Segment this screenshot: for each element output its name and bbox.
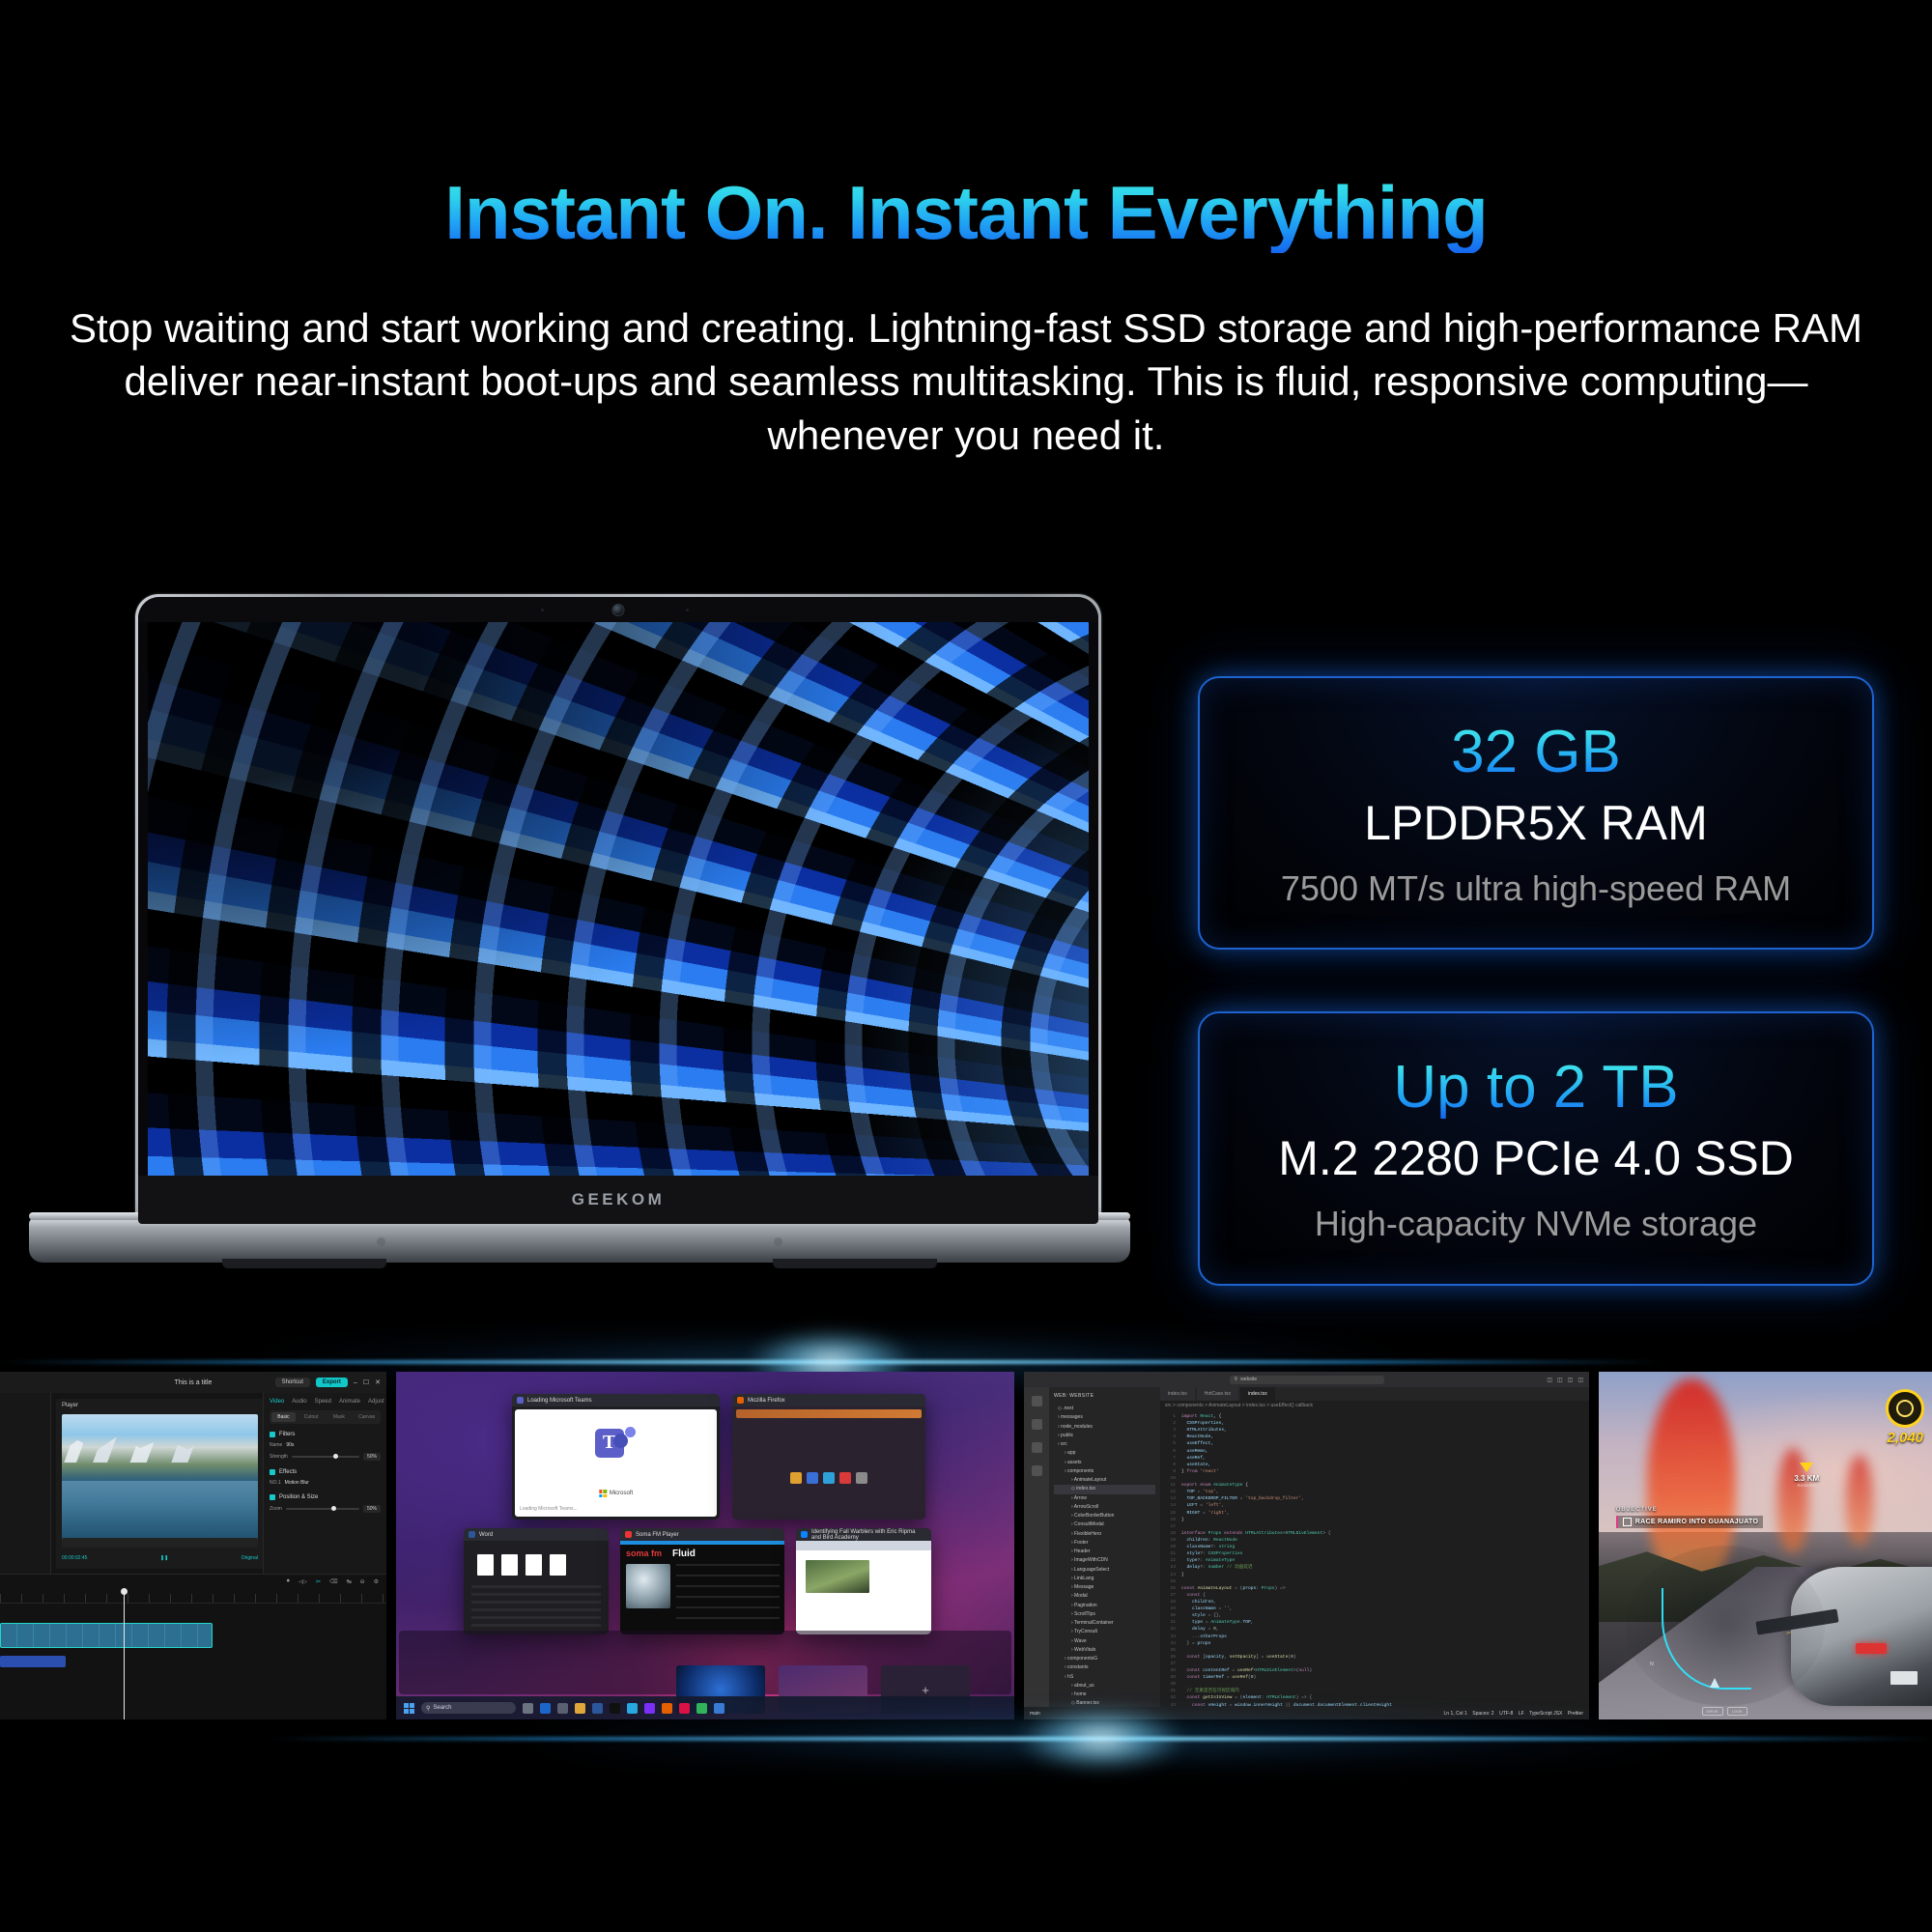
status-item[interactable]: UTF-8 <box>1499 1711 1513 1717</box>
original-badge[interactable]: Original <box>241 1555 258 1561</box>
plus-icon[interactable]: + <box>922 1683 929 1697</box>
car-taillight <box>1856 1643 1887 1654</box>
window-title: Identifying Fall Warblers with Eric Ripm… <box>811 1529 926 1541</box>
status-branch[interactable]: main <box>1030 1711 1040 1717</box>
waypoint-hud: 3.3 KM RAMIRO <box>1794 1463 1819 1488</box>
file-tree-item[interactable]: › constants <box>1054 1663 1155 1672</box>
close-icon[interactable]: ✕ <box>375 1378 381 1386</box>
tile-icon-1[interactable] <box>790 1472 802 1484</box>
section-label: Effects <box>279 1469 297 1475</box>
breadcrumb[interactable]: src > components > AnimateLayout > index… <box>1165 1403 1313 1408</box>
spec-subtitle: High-capacity NVMe storage <box>1235 1203 1837 1244</box>
spec-value: 32 GB <box>1235 721 1837 783</box>
windows-start-icon[interactable] <box>404 1703 414 1714</box>
tab-index-active[interactable]: index.tsx <box>1240 1387 1275 1401</box>
window-title: Word <box>479 1532 493 1538</box>
vendor-label: Microsoft <box>610 1491 633 1496</box>
tab-adjust[interactable]: Adjust <box>368 1399 384 1405</box>
teams-logo-icon: T <box>595 1427 638 1465</box>
track-list[interactable] <box>676 1564 780 1623</box>
player-controls[interactable]: 00:00:02:45 ❚❚ Original <box>62 1551 258 1565</box>
file-tree[interactable]: ◇ .next› messages› node_modules› public›… <box>1054 1405 1155 1707</box>
file-tree-item[interactable]: › ScrollTips <box>1054 1610 1155 1619</box>
field-value: Motion Blur <box>285 1480 309 1486</box>
webcam-icon <box>613 605 624 615</box>
objective-hud: OBJECTIVE RACE RAMIRO INTO GUANAJUATO <box>1616 1507 1764 1528</box>
accent-bar <box>620 1541 784 1545</box>
laptop-screw-left-icon <box>377 1237 385 1246</box>
timeline-audio-clip[interactable] <box>0 1656 66 1667</box>
minimap-player-arrow-icon <box>1710 1678 1719 1688</box>
file-tree-item[interactable]: › components <box>1054 1467 1155 1476</box>
zoom-slider[interactable] <box>286 1508 359 1510</box>
window-title: Mozilla Firefox <box>748 1398 785 1404</box>
laptop-lid: GEEKOM <box>135 594 1101 1227</box>
file-tree-item[interactable]: › app <box>1054 1449 1155 1458</box>
minimap-route <box>1662 1588 1751 1690</box>
loading-status: Loading Microsoft Teams... <box>520 1506 578 1512</box>
file-tree-item[interactable]: › TerminalContainer <box>1054 1619 1155 1628</box>
window-titlebar: Loading Microsoft Teams <box>512 1394 720 1406</box>
inspector-subtabs[interactable]: Basic Cutout Mask Canvas <box>270 1410 381 1424</box>
explorer-title: WEB: WEBSITE <box>1054 1393 1155 1399</box>
file-tree-item[interactable]: › about_us <box>1054 1682 1155 1690</box>
explorer-icon[interactable] <box>1032 1396 1042 1406</box>
field-label: Zoom <box>270 1506 282 1512</box>
section-label: Position & Size <box>279 1494 318 1500</box>
window-body <box>464 1541 609 1634</box>
car-license-plate <box>1890 1671 1918 1685</box>
field-row-slider[interactable]: Strength 50% <box>270 1453 381 1461</box>
file-tree-item[interactable]: › FlexibleHero <box>1054 1530 1155 1539</box>
shortcut-button[interactable]: Shortcut <box>275 1378 310 1387</box>
section-header[interactable]: Filters <box>270 1432 381 1437</box>
spec-card-storage: Up to 2 TB M.2 2280 PCIe 4.0 SSD High-ca… <box>1198 1011 1874 1285</box>
vscode-titlebar: ⚲ website ◫ ◫ ◫ ◫ <box>1024 1372 1589 1387</box>
video-editor-inspector[interactable]: Video Audio Speed Animate Adjust Basic C… <box>263 1393 386 1575</box>
field-row-slider[interactable]: Zoom 50% <box>270 1505 381 1513</box>
waypoint-distance: 3.3 KM <box>1794 1474 1819 1483</box>
page-title: Instant On. Instant Everything <box>0 174 1932 253</box>
zoom-out-icon[interactable]: ⊖ <box>360 1578 365 1585</box>
album-art <box>626 1564 670 1608</box>
thumbnail-racing-game[interactable]: 2,040 3.3 KM RAMIRO OBJECTIVE RACE RAMIR… <box>1599 1372 1932 1719</box>
search-placeholder: Search <box>433 1705 451 1711</box>
file-tree-item[interactable]: › LinkLang <box>1054 1575 1155 1583</box>
widgets-icon[interactable] <box>540 1703 551 1714</box>
extensions-icon[interactable] <box>1032 1465 1042 1476</box>
export-button[interactable]: Export <box>316 1378 348 1387</box>
file-tree-item[interactable]: › Footer <box>1054 1539 1155 1548</box>
status-right-group[interactable]: Ln 1, Col 1 Spaces: 2 UTF-8 LF TypeScrip… <box>1444 1711 1583 1717</box>
waypoint-marker-icon <box>1800 1463 1813 1472</box>
teams-person-small-icon <box>625 1427 636 1437</box>
mail-icon[interactable] <box>696 1703 707 1714</box>
window-body: T Microsoft Loading Microsoft Teams... <box>515 1409 717 1517</box>
laptop-foot-left <box>222 1259 386 1268</box>
file-tree-item[interactable]: › hS <box>1054 1673 1155 1682</box>
inspector-tabs[interactable]: Video Audio Speed Animate Adjust <box>270 1399 381 1405</box>
timeline-toolbar[interactable]: ⏺ ◅▷ ✂ ⌫ ↹ ⊖ ⚙ <box>287 1578 379 1585</box>
red-smoke-plume-3 <box>1846 1455 1873 1546</box>
microsoft-brand: Microsoft <box>599 1490 633 1497</box>
shortcut-tiles[interactable] <box>790 1472 867 1484</box>
microphone-icon[interactable]: ⏺ <box>287 1578 290 1585</box>
tab-speed[interactable]: Speed <box>315 1399 331 1405</box>
tab-index-1[interactable]: index.tsx <box>1160 1387 1195 1401</box>
control-hint-look: LOOK <box>1727 1707 1747 1716</box>
timeline-playhead[interactable] <box>124 1592 125 1719</box>
minimize-icon[interactable]: – <box>354 1379 357 1386</box>
minimap: N <box>1626 1546 1825 1706</box>
file-tree-item[interactable]: › AnimateLayout <box>1054 1476 1155 1485</box>
command-palette-input[interactable]: ⚲ website <box>1230 1376 1384 1384</box>
activity-bar[interactable] <box>1024 1387 1049 1707</box>
field-label: Name <box>270 1442 282 1448</box>
file-explorer-icon[interactable] <box>575 1703 585 1714</box>
browser-toolbar[interactable] <box>796 1541 931 1550</box>
window-word[interactable]: Word <box>464 1528 609 1634</box>
subtab-cutout[interactable]: Cutout <box>299 1412 324 1422</box>
article-image <box>806 1560 869 1593</box>
word-icon <box>469 1531 475 1538</box>
player-label: Player <box>62 1403 78 1408</box>
status-item[interactable]: Ln 1, Col 1 <box>1444 1711 1467 1717</box>
thumbnail-video-editor[interactable]: This is a title Shortcut Export – ☐ ✕ Pl… <box>0 1372 386 1719</box>
file-tree-item[interactable]: › home <box>1054 1690 1155 1699</box>
browser-icon <box>801 1531 808 1538</box>
player-preview-image <box>62 1414 258 1542</box>
subtab-canvas[interactable]: Canvas <box>355 1412 379 1422</box>
window-titlebar: Mozilla Firefox <box>732 1394 925 1406</box>
file-tree-item[interactable]: › componentsG <box>1054 1655 1155 1663</box>
store-icon[interactable] <box>644 1703 655 1714</box>
tab-animate[interactable]: Animate <box>339 1399 360 1405</box>
firefox-taskbar-icon[interactable] <box>662 1703 672 1714</box>
window-body <box>796 1541 931 1634</box>
page-subtitle: Stop waiting and start working and creat… <box>58 301 1874 462</box>
file-tree-item[interactable]: › LanguageSelect <box>1054 1566 1155 1575</box>
window-title: Soma FM Player <box>636 1532 679 1538</box>
timecode-current: 00:00:02:45 <box>62 1555 87 1561</box>
laptop-product-image: GEEKOM <box>29 594 1130 1290</box>
tab-video[interactable]: Video <box>270 1399 284 1405</box>
glow-core <box>0 1360 1662 1364</box>
objective-checkbox-icon <box>1623 1518 1632 1526</box>
score-hud: 2,040 <box>1886 1389 1924 1446</box>
microsoft-logo-icon <box>599 1490 607 1497</box>
window-browser-article[interactable]: Identifying Fall Warblers with Eric Ripm… <box>796 1528 931 1634</box>
webcam-led-icon <box>686 609 689 611</box>
soma-fm-logo: soma fm <box>626 1548 662 1558</box>
video-editor-titlebar: This is a title Shortcut Export – ☐ ✕ <box>0 1372 386 1393</box>
search-input[interactable]: ⚲ Search <box>421 1702 516 1714</box>
thumbnail-code-editor[interactable]: ⚲ website ◫ ◫ ◫ ◫ <box>1024 1372 1589 1719</box>
file-tree-item[interactable]: › ImageWithCDN <box>1054 1556 1155 1565</box>
status-item[interactable]: Prettier <box>1568 1711 1583 1717</box>
tile-icon-2[interactable] <box>807 1472 818 1484</box>
soma-fm-icon <box>625 1531 632 1538</box>
vscode-status-bar[interactable]: main Ln 1, Col 1 Spaces: 2 UTF-8 LF Type… <box>1024 1707 1589 1719</box>
field-value[interactable]: 50% <box>363 1453 381 1461</box>
window-titlebar: Soma FM Player <box>620 1528 784 1541</box>
file-explorer-sidebar[interactable]: WEB: WEBSITE ◇ .next› messages› node_mod… <box>1049 1387 1160 1707</box>
station-name: Fluid <box>672 1548 696 1559</box>
score-value: 2,040 <box>1886 1430 1924 1446</box>
command-palette-value: website <box>1240 1377 1257 1382</box>
checkbox-icon[interactable] <box>270 1432 275 1437</box>
subtab-basic[interactable]: Basic <box>271 1412 296 1422</box>
code-editor-area[interactable]: 1import React, { 2 CSSProperties, 3 HTML… <box>1160 1410 1589 1707</box>
spec-value: Up to 2 TB <box>1235 1056 1837 1119</box>
minimap-compass: N <box>1650 1662 1654 1667</box>
spec-title: LPDDR5X RAM <box>1235 797 1837 850</box>
file-tree-item[interactable]: › Header <box>1054 1548 1155 1556</box>
score-badge-icon <box>1886 1389 1924 1428</box>
file-tree-item[interactable]: › messages <box>1054 1413 1155 1422</box>
file-tree-item[interactable]: › src <box>1054 1440 1155 1449</box>
status-item[interactable]: TypeScript JSX <box>1529 1711 1562 1717</box>
word-taskbar-icon[interactable] <box>592 1703 603 1714</box>
file-tree-item[interactable]: › ArrowScroll <box>1054 1503 1155 1512</box>
file-tree-item[interactable]: › ConsultModal <box>1054 1520 1155 1529</box>
window-mozilla-firefox[interactable]: Mozilla Firefox <box>732 1394 925 1520</box>
recent-documents-list[interactable] <box>471 1585 601 1631</box>
product-feature-page: Instant On. Instant Everything Stop wait… <box>0 0 1932 1932</box>
window-body <box>732 1406 925 1520</box>
file-tree-item[interactable]: › WebVitals <box>1054 1646 1155 1655</box>
panel-bottom-icon[interactable]: ◫ <box>1557 1377 1563 1383</box>
field-row: NO.1 Motion Blur <box>270 1480 381 1486</box>
spec-title: M.2 2280 PCIe 4.0 SSD <box>1235 1132 1837 1185</box>
video-editor-media-panel[interactable] <box>0 1393 51 1575</box>
spec-card-list: 32 GB LPDDR5X RAM 7500 MT/s ultra high-s… <box>1198 676 1874 1286</box>
file-tree-item[interactable]: ◇ Banner.tsx <box>1054 1699 1155 1707</box>
inspector-section-position: Position & Size Zoom 50% <box>270 1494 381 1513</box>
inspector-section-effects: Effects NO.1 Motion Blur <box>270 1469 381 1486</box>
window-titlebar: Word <box>464 1528 609 1541</box>
file-tree-item[interactable]: › Wave <box>1054 1637 1155 1646</box>
file-tree-item[interactable]: › Modal <box>1054 1592 1155 1601</box>
settings-icon[interactable] <box>557 1703 568 1714</box>
checkbox-icon[interactable] <box>270 1469 275 1475</box>
file-tree-item[interactable]: › node_modules <box>1054 1423 1155 1432</box>
status-item[interactable]: LF <box>1519 1711 1524 1717</box>
objective-label: OBJECTIVE <box>1616 1507 1764 1513</box>
file-tree-item[interactable]: › Message <box>1054 1583 1155 1592</box>
spec-card-ram: 32 GB LPDDR5X RAM 7500 MT/s ultra high-s… <box>1198 676 1874 950</box>
checkbox-icon[interactable] <box>270 1494 275 1500</box>
file-tree-item[interactable]: › ColorBorderButton <box>1054 1512 1155 1520</box>
game-viewport: 2,040 3.3 KM RAMIRO OBJECTIVE RACE RAMIR… <box>1599 1372 1932 1719</box>
template-gallery[interactable] <box>477 1554 566 1576</box>
teams-taskbar-icon[interactable] <box>714 1703 724 1714</box>
field-label: NO.1 <box>270 1480 281 1486</box>
mirror-icon[interactable]: ↹ <box>347 1578 352 1585</box>
file-tree-item[interactable]: › assets <box>1054 1459 1155 1467</box>
file-tree-item[interactable]: › Pagination <box>1054 1602 1155 1610</box>
slider-handle[interactable] <box>331 1506 336 1511</box>
glow-core <box>270 1737 1932 1741</box>
section-header[interactable]: Effects <box>270 1469 381 1475</box>
window-microsoft-teams[interactable]: Loading Microsoft Teams T Microsoft Load… <box>512 1394 720 1520</box>
control-hints: DRIVE LOOK <box>1702 1707 1747 1716</box>
tile-icon-4[interactable] <box>839 1472 851 1484</box>
window-soma-fm-player[interactable]: Soma FM Player soma fm Fluid <box>620 1528 784 1634</box>
panel-right-icon[interactable]: ◫ <box>1568 1377 1574 1383</box>
search-icon[interactable] <box>1032 1419 1042 1430</box>
editor-tab-bar[interactable]: index.tsx HotCase.tsx index.tsx <box>1160 1387 1589 1401</box>
tile-icon-5[interactable] <box>856 1472 867 1484</box>
source-control-icon[interactable] <box>1032 1442 1042 1453</box>
panel-left-icon[interactable]: ◫ <box>1547 1377 1552 1383</box>
window-body: soma fm Fluid <box>620 1541 784 1634</box>
waypoint-name: RAMIRO <box>1794 1483 1819 1488</box>
delete-icon[interactable]: ⌫ <box>329 1578 337 1585</box>
task-view-icon[interactable] <box>523 1703 533 1714</box>
tab-hotcase[interactable]: HotCase.tsx <box>1197 1387 1238 1401</box>
status-item[interactable]: Spaces: 2 <box>1472 1711 1493 1717</box>
field-value: 90s <box>286 1442 294 1448</box>
video-editor-timeline[interactable]: ⏺ ◅▷ ✂ ⌫ ↹ ⊖ ⚙ <box>0 1574 386 1719</box>
video-editor-project-title: This is a title <box>175 1379 213 1386</box>
spec-subtitle: 7500 MT/s ultra high-speed RAM <box>1235 867 1837 909</box>
file-tree-item[interactable]: › public <box>1054 1432 1155 1440</box>
laptop-screw-right-icon <box>774 1237 782 1246</box>
search-icon: ⚲ <box>426 1705 430 1712</box>
video-editor-window: This is a title Shortcut Export – ☐ ✕ Pl… <box>0 1372 386 1719</box>
section-header[interactable]: Position & Size <box>270 1494 381 1500</box>
cut-icon[interactable]: ✂ <box>316 1578 321 1585</box>
window-titlebar: Identifying Fall Warblers with Eric Ripm… <box>796 1528 931 1541</box>
field-label: Strength <box>270 1454 288 1460</box>
settings-icon[interactable]: ⚙ <box>374 1578 379 1585</box>
player-scrubber[interactable] <box>62 1538 258 1548</box>
windows-taskbar[interactable]: ⚲ Search <box>396 1696 1014 1719</box>
thumbnail-task-view[interactable]: Loading Microsoft Teams T Microsoft Load… <box>396 1372 1014 1719</box>
app-screenshot-strip: This is a title Shortcut Export – ☐ ✕ Pl… <box>0 1372 1932 1719</box>
terminal-icon[interactable] <box>610 1703 620 1714</box>
laptop-screen <box>148 622 1089 1176</box>
file-tree-item[interactable]: ◇ index.tsx <box>1054 1485 1155 1493</box>
laptop-lid-inner: GEEKOM <box>138 597 1098 1224</box>
subtab-mask[interactable]: Mask <box>327 1412 352 1422</box>
strength-slider[interactable] <box>292 1456 359 1458</box>
split-icon[interactable]: ◅▷ <box>298 1578 307 1585</box>
desktop-wallpaper <box>148 622 1089 1176</box>
file-tree-item[interactable]: › TryConsult <box>1054 1628 1155 1636</box>
video-editor-player: Player 00:00:02:45 ❚❚ Original <box>56 1399 264 1569</box>
control-hint-drive: DRIVE <box>1702 1707 1723 1716</box>
field-row: Name 90s <box>270 1442 381 1448</box>
video-editor-window-controls[interactable]: Shortcut Export – ☐ ✕ <box>275 1378 381 1387</box>
inspector-section-filters: Filters Name 90s Strength 50% <box>270 1432 381 1461</box>
timeline-video-clip[interactable] <box>0 1623 213 1648</box>
address-bar[interactable] <box>736 1409 922 1418</box>
layout-controls[interactable]: ◫ ◫ ◫ ◫ <box>1547 1377 1583 1383</box>
laptop-chin: GEEKOM <box>138 1176 1098 1224</box>
laptop-base <box>29 1218 1130 1263</box>
file-tree-item[interactable]: › Arrow <box>1054 1494 1155 1503</box>
field-value[interactable]: 50% <box>363 1505 381 1513</box>
file-tree-item[interactable]: ◇ .next <box>1054 1405 1155 1413</box>
objective-text: RACE RAMIRO INTO GUANAJUATO <box>1635 1519 1759 1525</box>
objective-row: RACE RAMIRO INTO GUANAJUATO <box>1616 1516 1764 1528</box>
teams-icon <box>517 1397 524 1404</box>
brand-logo: GEEKOM <box>572 1190 666 1209</box>
slider-handle[interactable] <box>333 1454 338 1459</box>
layout-icon[interactable]: ◫ <box>1577 1377 1583 1383</box>
section-label: Filters <box>279 1432 295 1437</box>
search-icon: ⚲ <box>1235 1377 1238 1382</box>
maximize-icon[interactable]: ☐ <box>363 1378 369 1386</box>
window-title: Loading Microsoft Teams <box>527 1398 592 1404</box>
glow-halo <box>270 1717 1932 1761</box>
windows-task-view: Loading Microsoft Teams T Microsoft Load… <box>396 1372 1014 1719</box>
timeline-ruler[interactable] <box>0 1594 386 1604</box>
laptop-foot-right <box>773 1259 937 1268</box>
tab-audio[interactable]: Audio <box>292 1399 306 1405</box>
browser-taskbar-icon[interactable] <box>627 1703 638 1714</box>
vscode-window: ⚲ website ◫ ◫ ◫ ◫ <box>1024 1372 1589 1719</box>
soma-fm-taskbar-icon[interactable] <box>679 1703 690 1714</box>
pause-icon[interactable]: ❚❚ <box>160 1555 168 1561</box>
firefox-icon <box>737 1397 744 1404</box>
tile-icon-3[interactable] <box>823 1472 835 1484</box>
